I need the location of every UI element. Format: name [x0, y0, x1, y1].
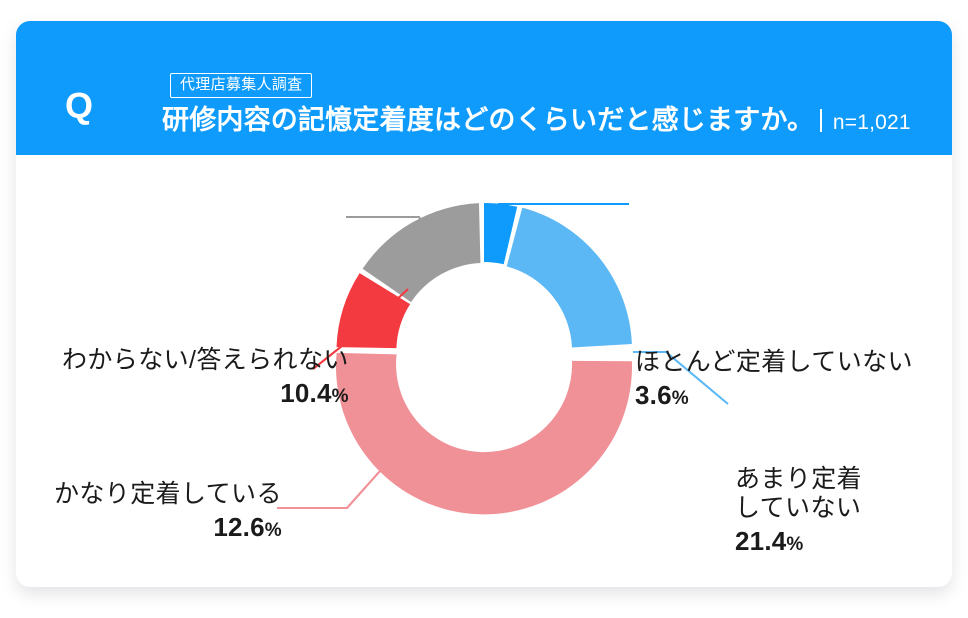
callout-unknown-value: 10.4% — [62, 378, 349, 408]
survey-result-card: Q 代理店募集人調査 研修内容の記憶定着度はどのくらいだと感じますか。 n=1,… — [16, 21, 952, 587]
sample-size-label: n=1,021 — [833, 111, 911, 135]
percent-symbol: % — [265, 520, 282, 541]
donut-slice-some — [336, 353, 632, 514]
callout-barely-label: ほとんど定着していない — [635, 348, 913, 377]
callout-strong-label: かなり定着している — [54, 480, 282, 509]
question-row: 研修内容の記憶定着度はどのくらいだと感じますか。 n=1,021 — [162, 106, 911, 136]
callout-little-value: 21.4% — [735, 526, 862, 556]
callout-unknown: わからない/答えられない 10.4% — [62, 346, 349, 408]
callout-unknown-number: 10.4 — [280, 378, 331, 408]
callout-little: あまり定着 していない 21.4% — [735, 465, 862, 556]
callout-strong: かなり定着している 12.6% — [54, 480, 282, 542]
survey-category-badge: 代理店募集人調査 — [170, 73, 312, 98]
callout-barely-number: 3.6 — [635, 380, 672, 410]
leader-line-some — [277, 471, 380, 508]
percent-symbol: % — [672, 388, 689, 409]
vertical-divider — [820, 109, 822, 132]
callout-unknown-label: わからない/答えられない — [62, 346, 349, 375]
callout-barely-value: 3.6% — [635, 380, 913, 410]
callout-little-label-line1: あまり定着 — [735, 465, 862, 494]
percent-symbol: % — [786, 534, 803, 555]
callout-little-number: 21.4 — [735, 526, 786, 556]
chart-body: わからない/答えられない 10.4% かなり定着している 12.6% ある程度定… — [16, 155, 952, 587]
page-title: 研修内容の記憶定着度はどのくらいだと感じますか。 — [162, 106, 814, 136]
callout-strong-number: 12.6 — [213, 512, 264, 542]
infographic-stage: Q 代理店募集人調査 研修内容の記憶定着度はどのくらいだと感じますか。 n=1,… — [0, 0, 968, 618]
callout-little-label-line2: していない — [735, 494, 862, 523]
card-header: Q 代理店募集人調査 研修内容の記憶定着度はどのくらいだと感じますか。 n=1,… — [16, 21, 952, 155]
percent-symbol: % — [332, 386, 349, 407]
question-marker: Q — [65, 88, 94, 124]
donut-slice-little — [507, 208, 632, 348]
callout-strong-value: 12.6% — [54, 512, 282, 542]
donut-slices — [336, 203, 632, 514]
callout-barely: ほとんど定着していない 3.6% — [635, 348, 913, 410]
